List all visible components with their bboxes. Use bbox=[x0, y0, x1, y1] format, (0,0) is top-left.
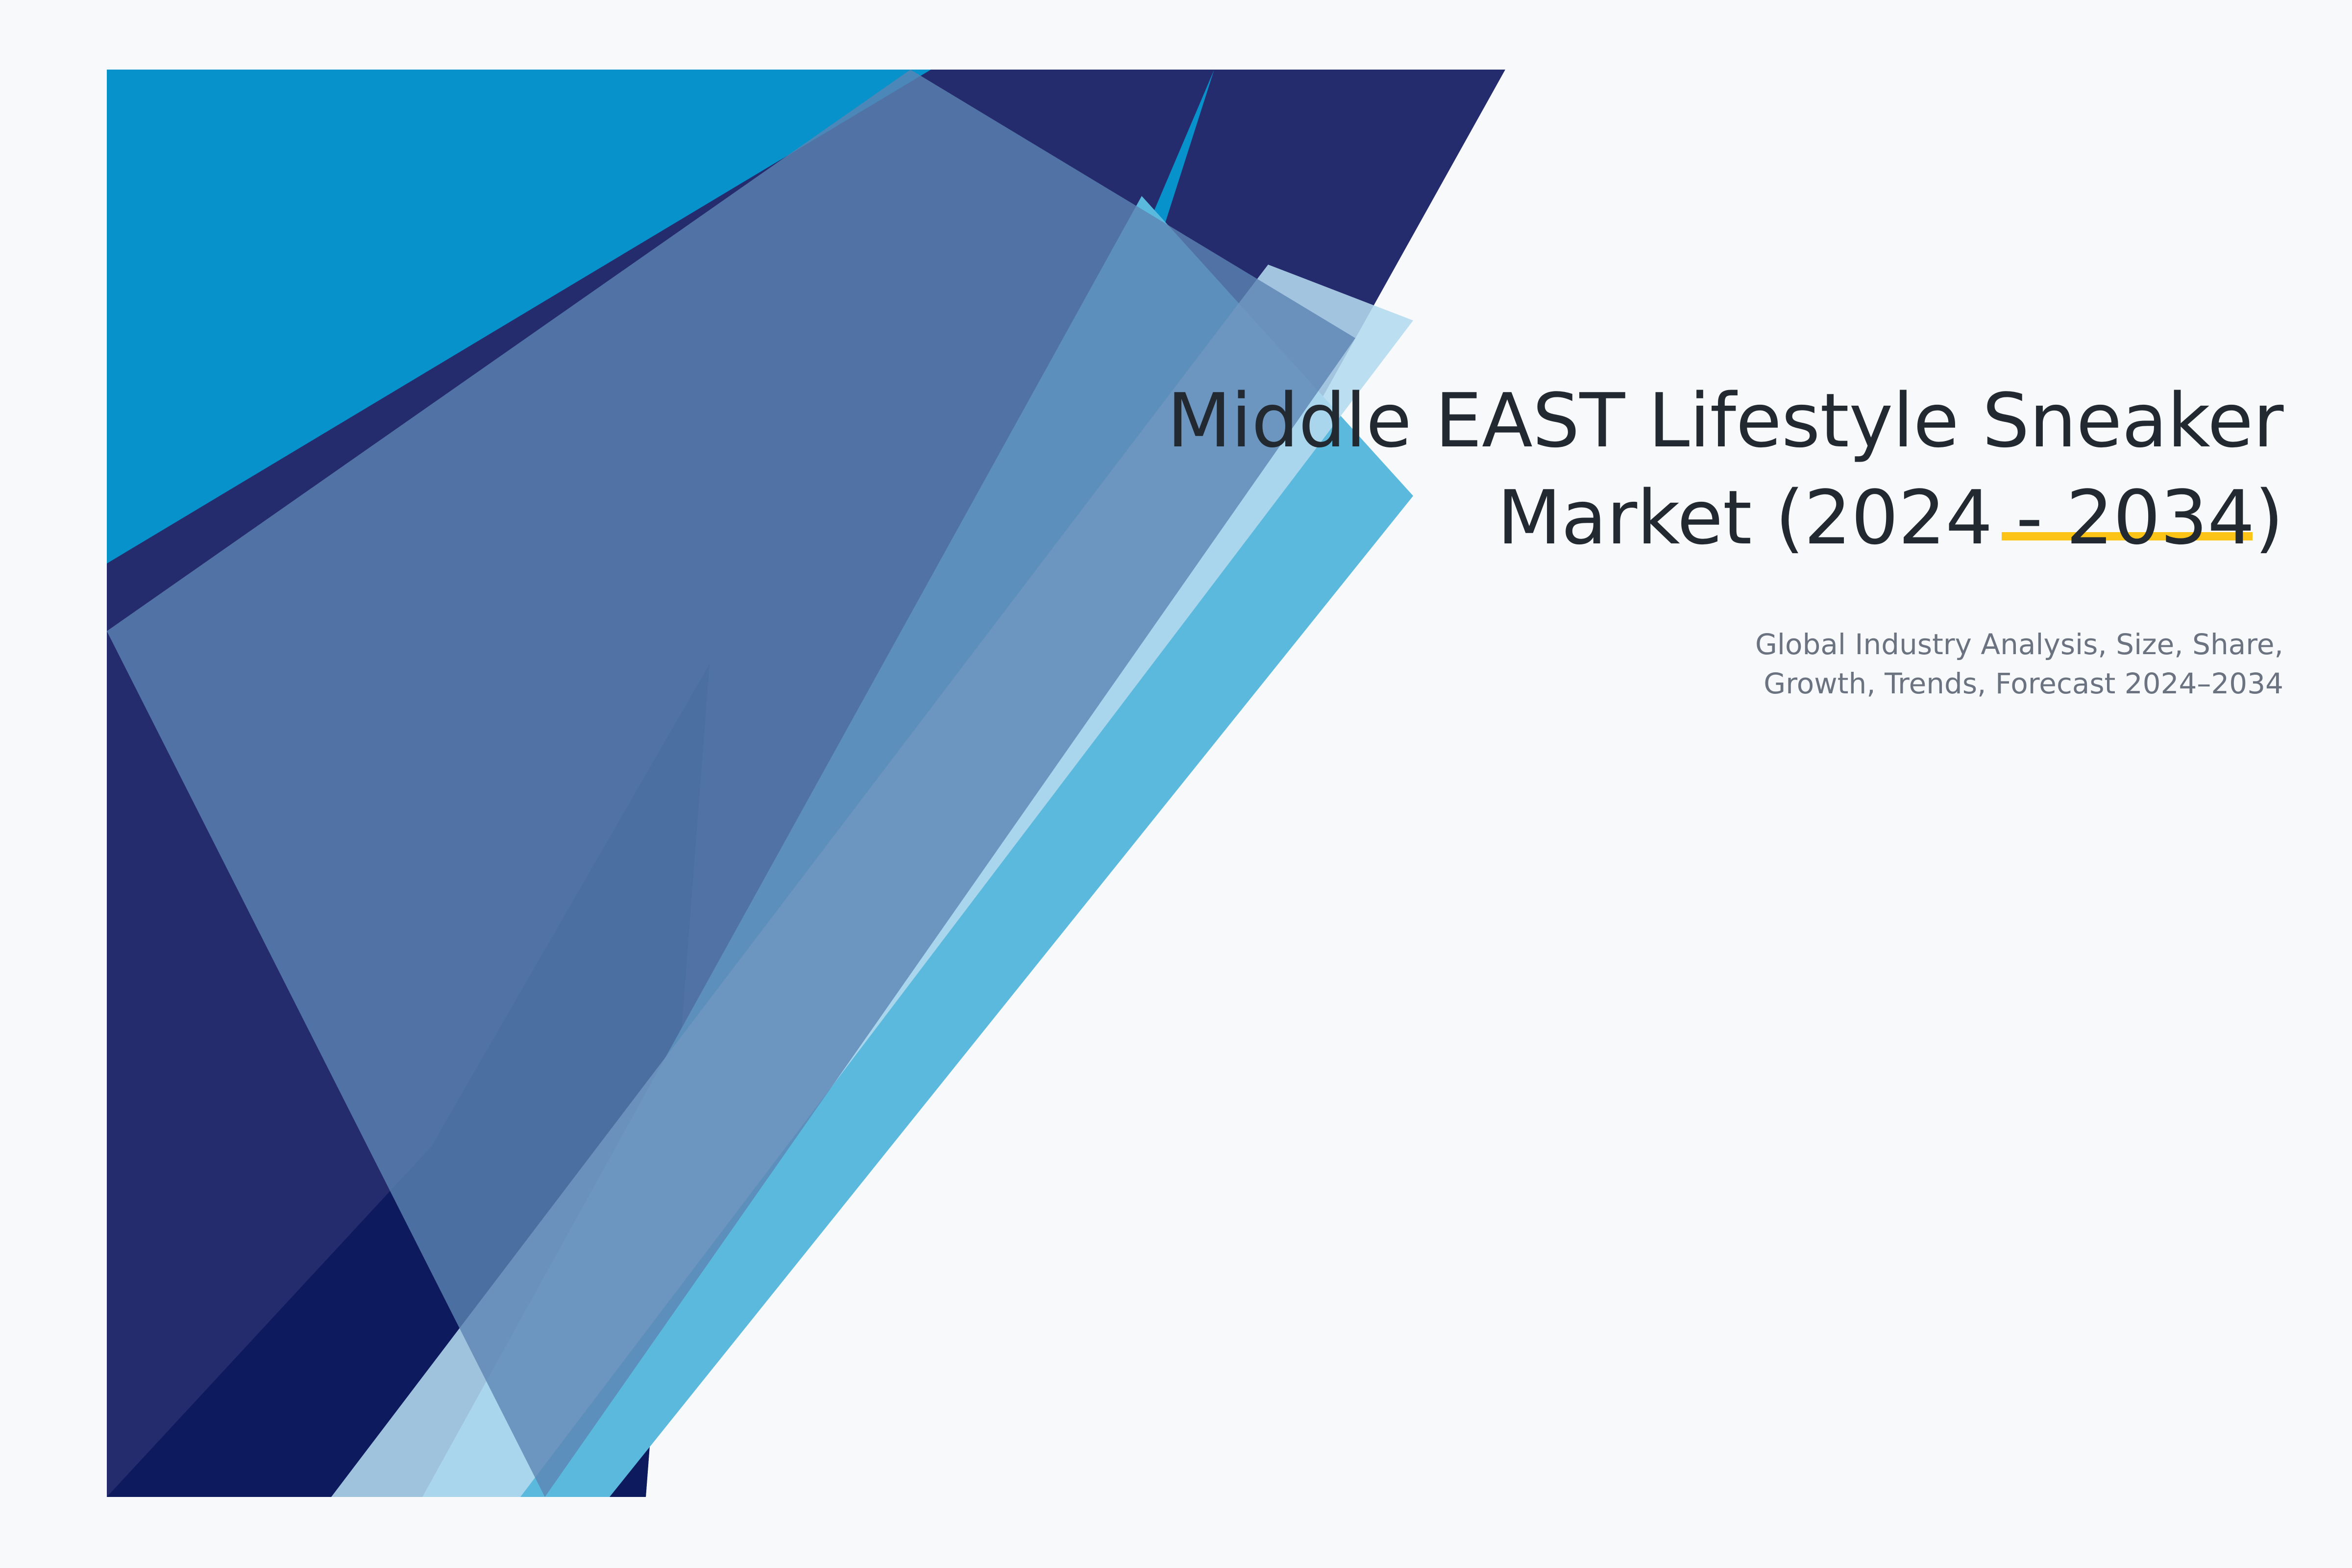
page-title: Middle EAST Lifestyle Sneaker Market (20… bbox=[1078, 372, 2283, 566]
abstract-geometric-background bbox=[0, 0, 2352, 1568]
page-subtitle: Global Industry Analysis, Size, Share, G… bbox=[1078, 566, 2283, 703]
cover-text-block: Middle EAST Lifestyle Sneaker Market (20… bbox=[1078, 372, 2283, 703]
cover-page: Middle EAST Lifestyle Sneaker Market (20… bbox=[0, 0, 2352, 1568]
